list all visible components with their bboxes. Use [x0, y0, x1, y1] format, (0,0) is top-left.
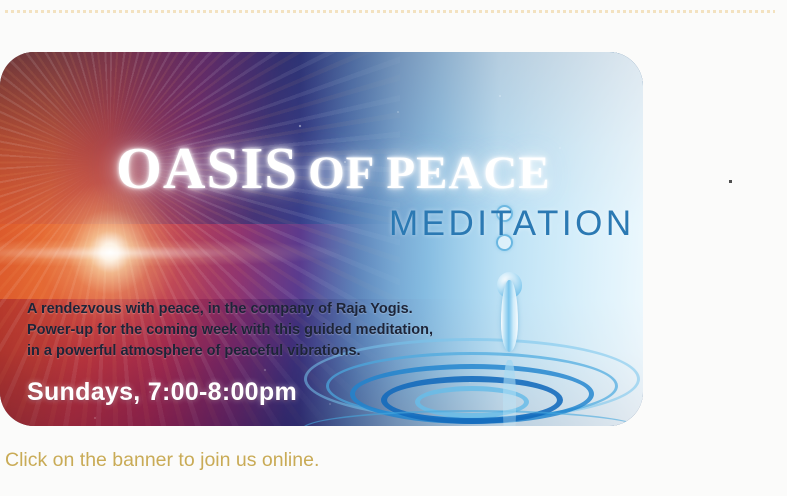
banner-title-main: OASIS — [116, 135, 298, 201]
banner-caption-link[interactable]: Click on the banner to join us online. — [5, 449, 319, 472]
description-line-2: Power-up for the coming week with this g… — [27, 320, 433, 341]
description-line-1: A rendezvous with peace, in the company … — [27, 299, 433, 320]
ripple-wave-1 — [302, 410, 642, 426]
banner-description: A rendezvous with peace, in the company … — [27, 299, 433, 362]
description-line-3: in a powerful atmosphere of peaceful vib… — [27, 341, 433, 362]
banner-schedule: Sundays, 7:00-8:00pm — [27, 378, 297, 407]
oasis-of-peace-banner-link[interactable]: OASISOF PEACE MEDITATION A rendezvous wi… — [0, 52, 643, 426]
stray-dot-artifact — [729, 180, 732, 183]
droplet-column-icon — [501, 280, 518, 352]
banner-subtitle: MEDITATION — [389, 204, 635, 244]
banner-title: OASISOF PEACE — [116, 134, 551, 203]
banner-title-sub: OF PEACE — [308, 147, 551, 199]
top-dotted-divider — [5, 10, 775, 13]
droplet-reflection — [503, 360, 516, 426]
